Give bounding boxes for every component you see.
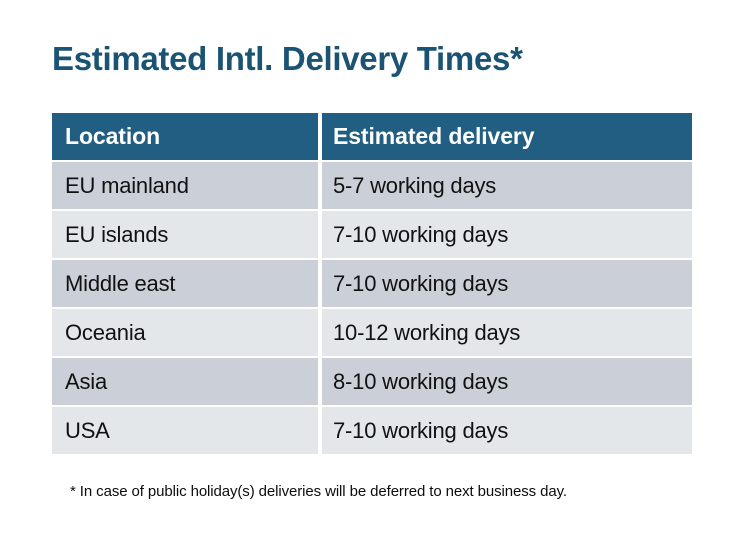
cell-location: Asia: [52, 358, 318, 405]
column-header-estimated-delivery: Estimated delivery: [322, 113, 692, 160]
cell-location: Middle east: [52, 260, 318, 307]
cell-delivery: 8-10 working days: [322, 358, 692, 405]
table-header-row: Location Estimated delivery: [52, 113, 692, 160]
column-header-location: Location: [52, 113, 318, 160]
cell-location: EU mainland: [52, 162, 318, 209]
table-row: USA 7-10 working days: [52, 407, 692, 454]
cell-delivery: 7-10 working days: [322, 260, 692, 307]
cell-location: USA: [52, 407, 318, 454]
cell-delivery: 10-12 working days: [322, 309, 692, 356]
cell-delivery: 5-7 working days: [322, 162, 692, 209]
table-row: Asia 8-10 working days: [52, 358, 692, 405]
table-row: EU mainland 5-7 working days: [52, 162, 692, 209]
cell-location: Oceania: [52, 309, 318, 356]
page-title: Estimated Intl. Delivery Times*: [52, 38, 523, 80]
table-row: EU islands 7-10 working days: [52, 211, 692, 258]
footnote-text: * In case of public holiday(s) deliverie…: [70, 482, 567, 502]
table-row: Middle east 7-10 working days: [52, 260, 692, 307]
delivery-times-table: Location Estimated delivery EU mainland …: [52, 113, 692, 454]
delivery-times-page: Estimated Intl. Delivery Times* Location…: [0, 0, 745, 536]
cell-location: EU islands: [52, 211, 318, 258]
cell-delivery: 7-10 working days: [322, 211, 692, 258]
table-row: Oceania 10-12 working days: [52, 309, 692, 356]
cell-delivery: 7-10 working days: [322, 407, 692, 454]
